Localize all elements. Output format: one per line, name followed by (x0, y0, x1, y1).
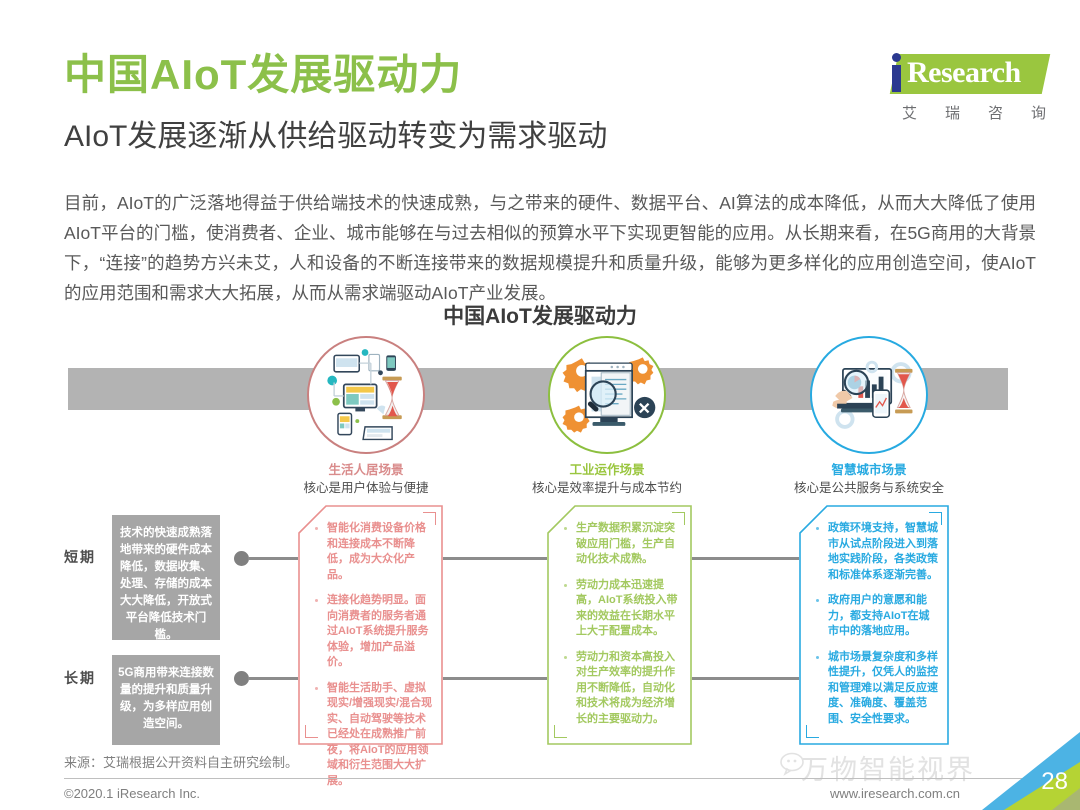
home-living-devices-icon (309, 338, 423, 452)
slide-page: 中国AIoT发展驱动力 AIoT发展逐渐从供给驱动转变为需求驱动 Researc… (0, 0, 1080, 810)
logo-cn-char-2: 瑞 (945, 102, 960, 123)
copyright-text: ©2020.1 iResearch Inc. (64, 786, 200, 801)
list-item: 政府用户的意愿和能力，都支持AIoT在城市中的落地应用。 (815, 593, 939, 640)
logo-mark: Research (866, 52, 1046, 98)
connector-line (692, 677, 799, 680)
panel-list-smartcity: 政策环境支持，智慧城市从试点阶段进入到落地实践阶段，各类政策和标准体系逐渐完善。… (815, 521, 939, 737)
row-label-short-term: 短期 (64, 547, 110, 567)
source-note: 来源：艾瑞根据公开资料自主研究绘制。 (64, 752, 298, 771)
connector-dot-short-term (234, 551, 249, 566)
column-sublabel-industrial: 核心是效率提升与成本节约 (467, 477, 747, 496)
content-panel-smartcity: 政策环境支持，智慧城市从试点阶段进入到落地实践阶段，各类政策和标准体系逐渐完善。… (799, 505, 949, 745)
driver-box-short-term: 技术的快速成熟落地带来的硬件成本降低，数据收集、处理、存储的成本大大降低，开放式… (112, 515, 220, 640)
page-subtitle: AIoT发展逐渐从供给驱动转变为需求驱动 (64, 122, 607, 152)
driver-box-long-term: 5G商用带来连接数量的提升和质量升级，为多样应用创造空间。 (112, 655, 220, 745)
scenario-circle-smartcity (810, 336, 928, 454)
connector-line (443, 677, 547, 680)
column-label-living: 生活人居场景 (246, 459, 486, 478)
panel-list-living: 智能化消费设备价格和连接成本不断降低，成为大众化产品。 连接化趋势明显。面向消费… (314, 521, 433, 737)
connector-dot-long-term (234, 671, 249, 686)
connector-line (248, 557, 298, 560)
corner-decoration: 28 (960, 732, 1080, 810)
intro-paragraph: 目前，AIoT的广泛落地得益于供给端技术的快速成熟，与之带来的硬件、数据平台、A… (64, 188, 1036, 308)
scenario-circle-living (307, 336, 425, 454)
list-item: 生产数据积累沉淀突破应用门槛，生产自动化技术成熟。 (563, 521, 682, 568)
list-item: 劳动力和资本高投入对生产效率的提升作用不断降低，自动化和技术将成为经济增长的主要… (563, 650, 682, 728)
wechat-watermark: 万物智能视界 (801, 748, 975, 787)
wechat-icon (780, 752, 810, 776)
connector-line (248, 677, 298, 680)
industrial-gears-monitor-icon (550, 338, 664, 452)
panel-list-industrial: 生产数据积累沉淀突破应用门槛，生产自动化技术成熟。 劳动力成本迅速提高，AIoT… (563, 521, 682, 737)
list-item: 城市场景复杂度和多样性提升，仅凭人的监控和管理难以满足反应速度、准确度、覆盖范围… (815, 650, 939, 728)
scenario-circle-industrial (548, 336, 666, 454)
smart-city-analytics-icon (812, 338, 926, 452)
logo-cn-char-4: 询 (1031, 102, 1046, 123)
logo-chinese-name: 艾 瑞 咨 询 (902, 102, 1046, 123)
website-url: www.iresearch.com.cn (830, 786, 960, 801)
list-item: 连接化趋势明显。面向消费者的服务者通过AIoT系统提升服务体验，增加产品溢价。 (314, 593, 433, 671)
list-item: 智能化消费设备价格和连接成本不断降低，成为大众化产品。 (314, 521, 433, 583)
logo-i-dot-icon (892, 53, 901, 62)
footer-divider (64, 778, 1046, 779)
column-label-smartcity: 智慧城市场景 (749, 459, 989, 478)
diagram-title: 中国AIoT发展驱动力 (0, 300, 1080, 330)
list-item: 劳动力成本迅速提高，AIoT系统投入带来的效益在长期水平上大于配置成本。 (563, 578, 682, 640)
page-title: 中国AIoT发展驱动力 (64, 54, 462, 96)
connector-line (443, 557, 547, 560)
logo-wordmark: Research (907, 56, 1021, 90)
content-panel-living: 智能化消费设备价格和连接成本不断降低，成为大众化产品。 连接化趋势明显。面向消费… (298, 505, 443, 745)
row-label-long-term: 长期 (64, 668, 110, 688)
column-sublabel-smartcity: 核心是公共服务与系统安全 (729, 477, 1009, 496)
column-sublabel-living: 核心是用户体验与便捷 (226, 477, 506, 496)
list-item: 智能生活助手、虚拟现实/增强现实/混合现实、自动驾驶等技术已经处在成熟推广前夜，… (314, 681, 433, 790)
logo-cn-char-1: 艾 (902, 102, 917, 123)
iresearch-logo: Research 艾 瑞 咨 询 (866, 52, 1046, 126)
column-label-industrial: 工业运作场景 (487, 459, 727, 478)
page-number: 28 (1041, 768, 1068, 796)
content-panel-industrial: 生产数据积累沉淀突破应用门槛，生产自动化技术成熟。 劳动力成本迅速提高，AIoT… (547, 505, 692, 745)
logo-i-stem-icon (892, 65, 901, 92)
logo-cn-char-3: 咨 (988, 102, 1003, 123)
connector-line (692, 557, 799, 560)
list-item: 政策环境支持，智慧城市从试点阶段进入到落地实践阶段，各类政策和标准体系逐渐完善。 (815, 521, 939, 583)
